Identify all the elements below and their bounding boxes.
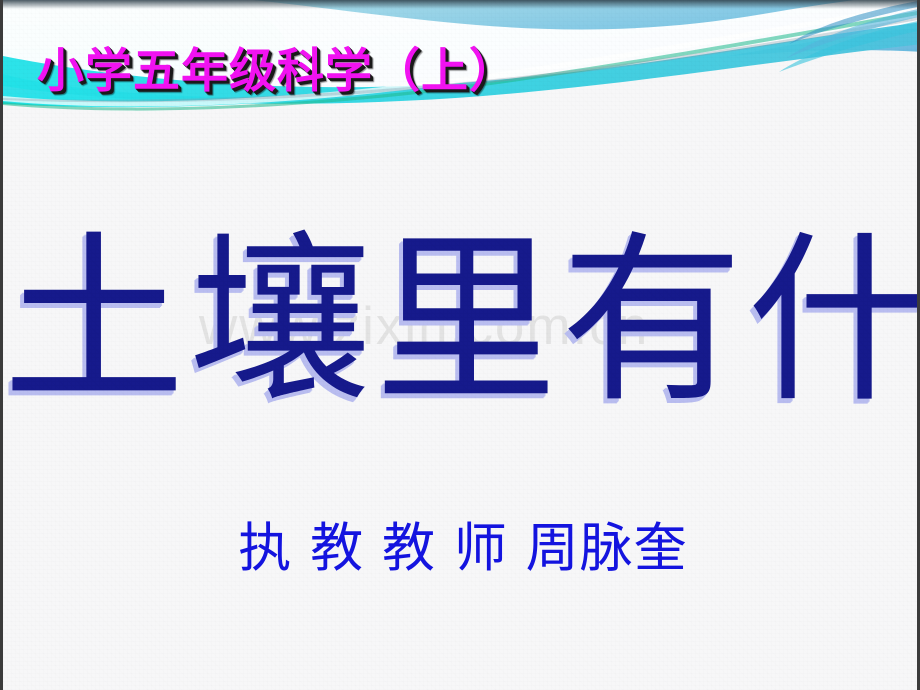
banner-top-shade bbox=[3, 0, 920, 9]
presentation-slide: 小学五年级科学（上） www.zixin.com.cn 土壤里有什么？ 执 教 … bbox=[0, 0, 920, 690]
lesson-main-title: 土壤里有什么？ bbox=[3, 196, 920, 446]
presenter-credit-line: 执 教 教 师 周脉奎 bbox=[3, 516, 920, 582]
course-subject-title: 小学五年级科学（上） bbox=[37, 32, 517, 101]
